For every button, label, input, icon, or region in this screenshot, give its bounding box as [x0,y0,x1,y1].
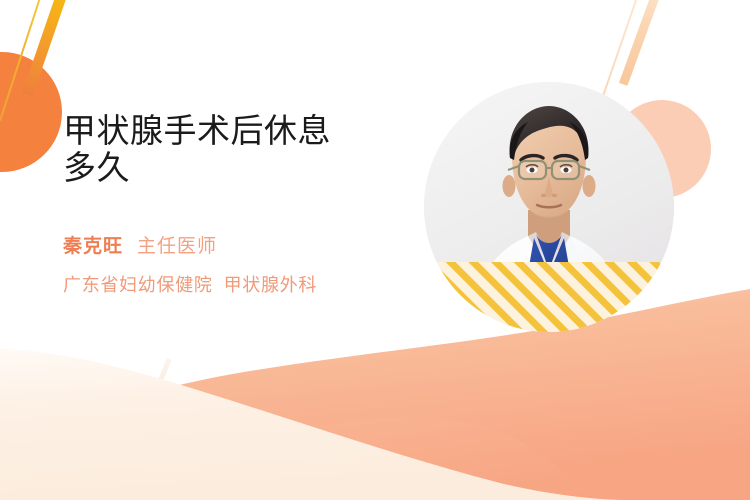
orange-circle-decoration [0,52,62,172]
diagonal-stripe-thin-top-left-icon [0,0,48,121]
doctor-video-cover-card: 甲状腺手术后休息 多久 秦克旺 主任医师 广东省妇幼保健院 甲状腺外科 [0,0,750,500]
page-title: 甲状腺手术后休息 多久 [63,112,413,187]
striped-wedge-decoration [424,82,674,332]
department-name: 甲状腺外科 [224,271,318,297]
avatar [424,82,674,332]
doctor-title: 主任医师 [137,231,217,258]
doctor-name: 秦克旺 [63,231,123,258]
doctor-credit-row: 秦克旺 主任医师 [63,231,413,258]
diagonal-stripe-thick-top-left-icon [22,0,73,97]
hospital-name: 广东省妇幼保健院 [63,271,213,297]
diagonal-stripe-thick-top-right-icon [619,0,668,86]
doctor-affiliation-row: 广东省妇幼保健院 甲状腺外科 [63,271,413,297]
text-content-block: 甲状腺手术后休息 多久 秦克旺 主任医师 广东省妇幼保健院 甲状腺外科 [63,112,413,297]
